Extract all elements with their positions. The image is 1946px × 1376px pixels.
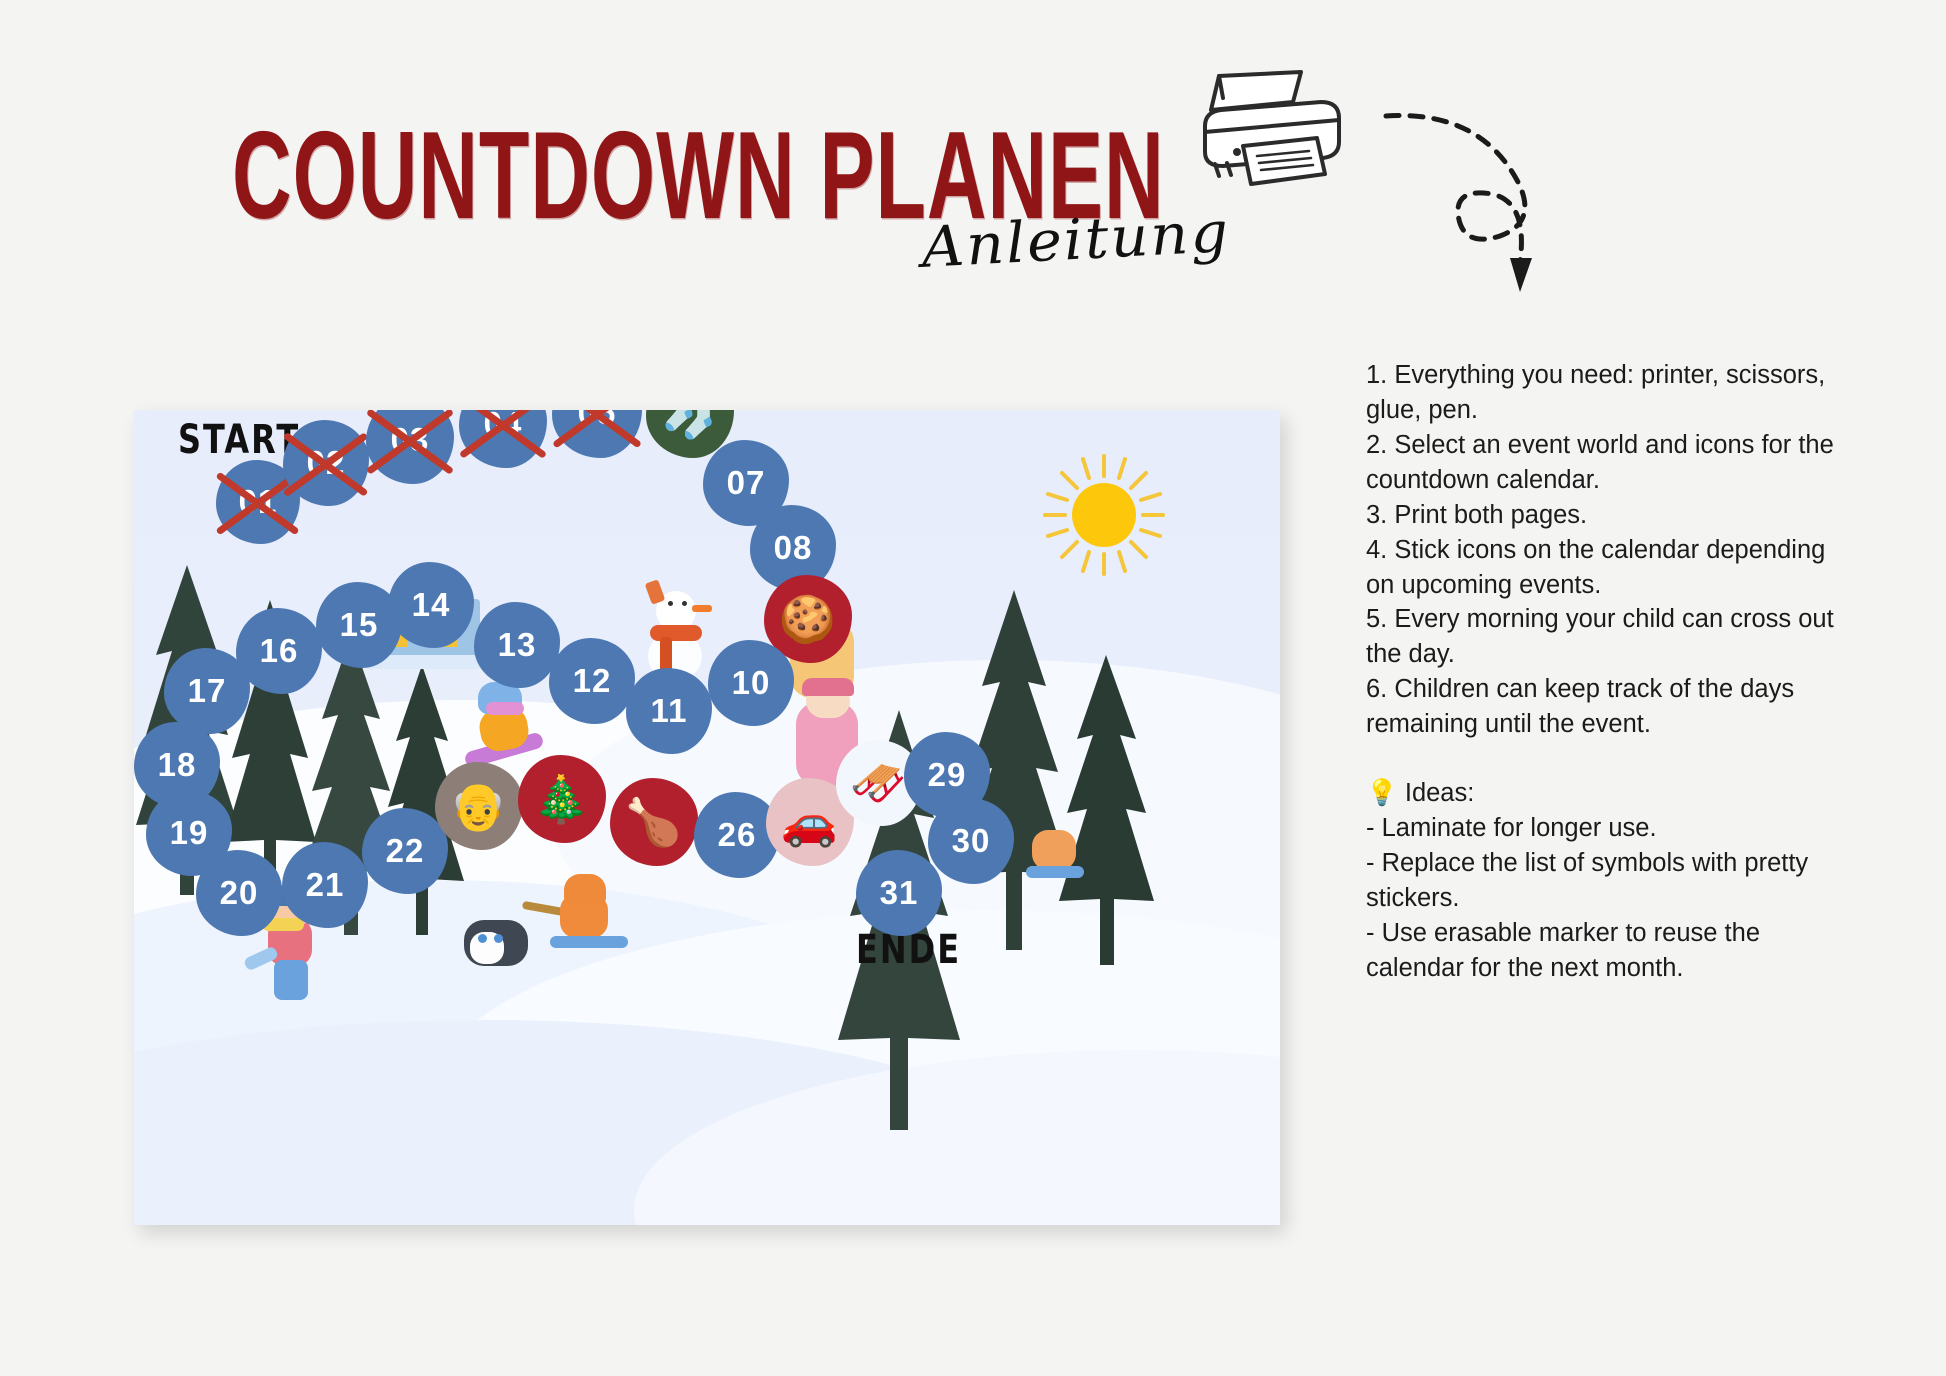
day-cell-25[interactable]: 🍗 xyxy=(610,778,698,866)
instructions-panel: 1. Everything you need: printer, scissor… xyxy=(1366,358,1836,986)
day-cell-30[interactable]: 30 xyxy=(928,798,1014,884)
start-label: START xyxy=(178,415,300,463)
day-cell-22[interactable]: 22 xyxy=(362,808,448,894)
day-number: 22 xyxy=(386,832,425,870)
day-cell-20[interactable]: 20 xyxy=(196,850,282,936)
car-icon: 🚗 xyxy=(781,799,839,845)
day-number: 31 xyxy=(880,874,919,912)
day-cell-14[interactable]: 14 xyxy=(388,562,474,648)
idea-item: - Laminate for longer use. xyxy=(1366,811,1836,846)
day-cell-12[interactable]: 12 xyxy=(549,638,635,724)
day-number: 17 xyxy=(188,672,227,710)
day-number: 21 xyxy=(306,866,345,904)
day-number: 13 xyxy=(498,626,537,664)
day-number: 07 xyxy=(727,464,766,502)
printer-icon xyxy=(1197,68,1345,193)
day-number: 15 xyxy=(340,606,379,644)
day-number: 18 xyxy=(158,746,197,784)
day-number: 04 xyxy=(484,410,523,443)
instruction-step: 6. Children can keep track of the days r… xyxy=(1366,672,1836,742)
ideas-heading-label: Ideas: xyxy=(1405,779,1474,807)
day-cell-21[interactable]: 21 xyxy=(282,842,368,928)
day-cell-05[interactable]: 05 xyxy=(552,410,642,458)
ideas-section: 💡 Ideas: - Laminate for longer use. - Re… xyxy=(1366,776,1836,986)
day-number: 03 xyxy=(391,421,430,459)
day-cell-31[interactable]: 31 xyxy=(856,850,942,936)
day-number: 29 xyxy=(928,756,967,794)
day-number: 20 xyxy=(220,874,259,912)
day-cell-23[interactable]: 👴 xyxy=(435,762,523,850)
day-number: 11 xyxy=(651,692,688,730)
turkey-dinner-icon: 🍗 xyxy=(625,799,683,845)
day-number: 01 xyxy=(239,483,278,521)
day-number: 16 xyxy=(260,632,299,670)
instruction-step: 4. Stick icons on the calendar depending… xyxy=(1366,533,1836,603)
curved-dashed-arrow-icon xyxy=(1380,90,1590,325)
instruction-step: 3. Print both pages. xyxy=(1366,498,1836,533)
instruction-step: 1. Everything you need: printer, scissor… xyxy=(1366,358,1836,428)
day-number: 14 xyxy=(412,586,451,624)
idea-item: - Replace the list of symbols with prett… xyxy=(1366,846,1836,916)
sledding-icon: 🛷 xyxy=(850,760,908,806)
day-number: 30 xyxy=(952,822,991,860)
poster-page: COUNTDOWN PLANEN Anleitung xyxy=(0,0,1946,1376)
day-number: 10 xyxy=(732,664,771,702)
ideas-heading: 💡 Ideas: xyxy=(1366,776,1836,811)
day-number: 08 xyxy=(774,529,813,567)
husky-sled-illustration xyxy=(464,880,634,990)
day-number: 02 xyxy=(307,444,346,482)
stocking-icon: 🧦 xyxy=(661,410,719,437)
day-number: 05 xyxy=(578,410,617,432)
day-cell-24[interactable]: 🎄 xyxy=(518,755,606,843)
day-number: 19 xyxy=(170,814,209,852)
idea-item: - Use erasable marker to reuse the calen… xyxy=(1366,916,1836,986)
instruction-step: 2. Select an event world and icons for t… xyxy=(1366,428,1836,498)
sledding-child-illustration xyxy=(1014,810,1094,890)
baking-icon: 🍪 xyxy=(779,596,837,642)
day-cell-02[interactable]: 02 xyxy=(283,420,369,506)
instruction-step: 5. Every morning your child can cross ou… xyxy=(1366,602,1836,672)
day-number: 26 xyxy=(718,816,757,854)
grandparents-icon: 👴 xyxy=(450,783,508,829)
day-cell-15[interactable]: 15 xyxy=(316,582,402,668)
day-cell-11[interactable]: 11 xyxy=(626,668,712,754)
day-number: 12 xyxy=(573,662,612,700)
countdown-board: START ENDE 0102030405🧦0708🍪1011121314151… xyxy=(134,410,1280,1225)
lightbulb-icon: 💡 xyxy=(1366,779,1398,807)
day-cell-10[interactable]: 10 xyxy=(708,640,794,726)
day-cell-03[interactable]: 03 xyxy=(366,410,454,484)
christmas-tree-icon: 🎄 xyxy=(533,776,591,822)
day-cell-04[interactable]: 04 xyxy=(459,410,547,468)
day-cell-13[interactable]: 13 xyxy=(474,602,560,688)
sun-icon xyxy=(1039,450,1169,585)
